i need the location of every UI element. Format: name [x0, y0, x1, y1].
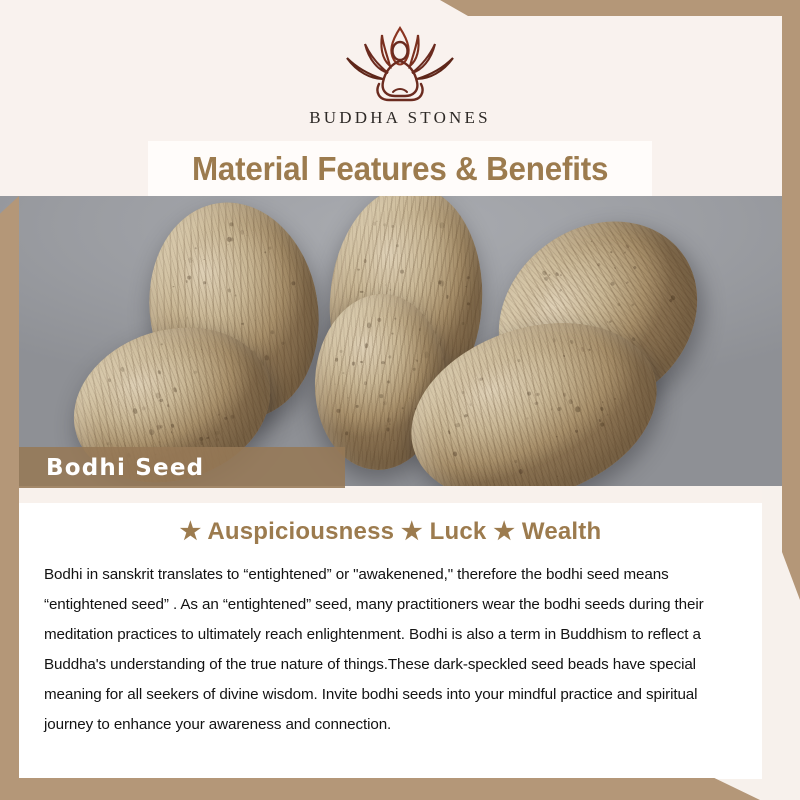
- seed-speck: [440, 222, 445, 228]
- seed-speck: [227, 244, 228, 245]
- seed-speck: [379, 394, 383, 399]
- seed-speck: [378, 318, 382, 322]
- seed-speck: [556, 436, 558, 437]
- seed-speck: [600, 422, 605, 426]
- seed-speck: [597, 263, 601, 267]
- seed-speck: [542, 270, 548, 276]
- seed-speck: [514, 459, 517, 463]
- seed-speck: [607, 414, 609, 416]
- seed-speck: [548, 273, 551, 276]
- seed-speck: [351, 362, 355, 366]
- seed-speck: [394, 318, 396, 320]
- seed-speck: [186, 280, 188, 283]
- seed-speck: [355, 405, 359, 408]
- seed-speck: [467, 302, 471, 305]
- seed-speck: [393, 440, 395, 441]
- seed-speck: [575, 406, 581, 413]
- seed-speck: [559, 274, 562, 277]
- seed-speck: [357, 268, 360, 271]
- seed-speck: [557, 407, 562, 412]
- seed-speck: [264, 251, 266, 253]
- seed-speck: [392, 225, 395, 228]
- seed-speck: [390, 289, 391, 291]
- seed-speck: [360, 361, 363, 364]
- seed-speck: [559, 289, 562, 292]
- seed-speck: [479, 377, 484, 381]
- seed-speck: [610, 281, 616, 287]
- seed-speck: [363, 259, 367, 264]
- seed-speck: [388, 355, 391, 359]
- seed-speck: [462, 322, 465, 325]
- seed-speck: [570, 340, 574, 344]
- seed-speck: [467, 276, 470, 279]
- seed-speck: [625, 280, 629, 284]
- seed-speck: [337, 409, 341, 413]
- seed-speck: [373, 222, 376, 226]
- seed-speck: [291, 281, 296, 286]
- seed-speck: [107, 442, 110, 445]
- seed-name-badge: Bodhi Seed: [0, 447, 345, 488]
- seed-speck: [161, 343, 164, 346]
- seed-speck: [389, 423, 391, 424]
- seed-speck: [159, 398, 164, 402]
- seed-speck: [269, 247, 272, 250]
- seed-speck: [339, 350, 342, 353]
- seed-speck: [194, 247, 196, 249]
- seed-name-text: Bodhi Seed: [46, 455, 204, 481]
- seed-speck: [387, 417, 391, 422]
- bottom-frame-accent: [0, 778, 760, 800]
- seed-speck: [200, 348, 202, 350]
- description-card: ★ Auspiciousness ★ Luck ★ Wealth Bodhi i…: [19, 486, 762, 771]
- seed-speck: [589, 349, 591, 351]
- seed-speck: [217, 413, 220, 416]
- seed-speck: [446, 295, 449, 299]
- seed-speck: [203, 383, 204, 384]
- card-top-tint: [19, 486, 762, 503]
- seed-speck: [614, 267, 616, 269]
- seed-speck: [224, 417, 228, 421]
- seed-speck: [132, 408, 138, 415]
- seed-speck: [440, 280, 445, 286]
- seed-speck: [609, 321, 612, 323]
- seed-speck: [557, 476, 559, 478]
- seed-speck: [335, 358, 339, 362]
- seed-speck: [461, 390, 465, 394]
- left-frame-accent: [0, 196, 19, 782]
- seed-speck: [334, 383, 336, 385]
- seed-speck: [554, 271, 560, 277]
- seed-speck: [229, 222, 234, 226]
- seed-speck: [623, 252, 626, 255]
- description-text: Bodhi in sanskrit translates to “entight…: [19, 546, 762, 740]
- page-title: Material Features & Benefits: [192, 150, 608, 188]
- seed-speck: [580, 347, 585, 353]
- seed-speck: [199, 246, 200, 248]
- seed-speck: [396, 244, 399, 247]
- seed-speck: [552, 338, 556, 342]
- card-bottom-strip: [19, 771, 762, 779]
- seed-speck: [212, 373, 214, 375]
- seed-speck: [281, 341, 285, 344]
- seed-speck: [625, 244, 629, 249]
- seed-speck: [401, 407, 403, 410]
- seed-speck: [550, 409, 551, 411]
- brand-name: BUDDHA STONES: [309, 108, 491, 128]
- seed-speck: [227, 237, 232, 243]
- seed-speck: [227, 288, 231, 293]
- seed-speck: [367, 323, 371, 329]
- seed-speck: [170, 423, 175, 428]
- seed-speck: [452, 451, 458, 457]
- seed-speck: [385, 284, 386, 285]
- seed-speck: [591, 240, 593, 242]
- seed-speck: [382, 401, 386, 406]
- seed-speck: [216, 438, 219, 441]
- seed-speck: [188, 257, 193, 264]
- seed-speck: [563, 355, 565, 357]
- seed-speck: [173, 286, 175, 288]
- seed-speck: [418, 328, 421, 331]
- seed-speck: [526, 417, 529, 420]
- seed-speck: [186, 317, 188, 320]
- seed-speck: [455, 422, 460, 428]
- seed-speck: [206, 436, 209, 439]
- seed-speck: [628, 285, 629, 286]
- seed-speck: [447, 430, 451, 434]
- title-banner: Material Features & Benefits: [148, 141, 652, 196]
- seed-speck: [384, 425, 385, 426]
- seed-speck: [187, 275, 192, 280]
- seed-speck: [464, 414, 469, 418]
- seed-speck: [633, 266, 636, 269]
- seed-speck: [669, 299, 672, 303]
- seed-speck: [424, 351, 429, 358]
- seed-speck: [120, 367, 125, 373]
- seed-speck: [376, 221, 378, 222]
- seed-speck: [469, 403, 472, 406]
- seed-speck: [631, 303, 635, 307]
- seed-speck: [193, 370, 198, 375]
- seed-speck: [536, 393, 540, 396]
- seed-speck: [631, 337, 636, 342]
- seed-speck: [241, 322, 244, 325]
- seed-speck: [412, 367, 416, 371]
- seed-speck: [157, 370, 161, 375]
- seed-speck: [141, 406, 146, 411]
- seed-speck: [610, 250, 613, 254]
- seed-speck: [518, 468, 524, 475]
- brand-lockup: BUDDHA STONES: [0, 22, 800, 128]
- seed-speck: [235, 294, 237, 296]
- seed-speck: [155, 392, 161, 399]
- seed-speck: [617, 303, 621, 307]
- seed-speck: [534, 401, 538, 405]
- seed-speck: [391, 332, 393, 334]
- seed-speck: [189, 356, 190, 357]
- seed-speck: [360, 291, 364, 294]
- seed-speck: [365, 343, 368, 347]
- seed-speck: [246, 235, 247, 236]
- seed-speck: [254, 320, 255, 321]
- seed-speck: [364, 381, 367, 385]
- seed-speck: [203, 281, 206, 285]
- seed-speck: [149, 429, 155, 436]
- seed-speck: [602, 401, 604, 403]
- right-frame-accent: [782, 0, 800, 600]
- seed-speck: [108, 377, 112, 382]
- seed-speck: [568, 399, 573, 405]
- seed-speck: [166, 404, 169, 407]
- seed-speck: [387, 381, 390, 384]
- seed-speck: [386, 428, 389, 432]
- seed-speck: [599, 407, 603, 411]
- seed-speck: [240, 230, 244, 235]
- seed-speck: [527, 391, 532, 396]
- seed-speck: [345, 431, 348, 435]
- seed-speck: [215, 430, 220, 435]
- seed-speck: [171, 431, 173, 433]
- seed-speck: [384, 223, 387, 226]
- seed-speck: [159, 424, 163, 429]
- seed-speck: [231, 415, 235, 419]
- seed-speck: [465, 286, 467, 288]
- seed-speck: [517, 359, 521, 363]
- seed-speck: [575, 429, 579, 433]
- product-photo: [0, 196, 800, 486]
- seed-speck: [562, 392, 567, 397]
- seed-speck: [543, 276, 548, 281]
- seed-speck: [599, 419, 602, 422]
- seed-speck: [343, 372, 345, 374]
- seed-speck: [199, 440, 203, 445]
- infographic-page: BUDDHA STONES Material Features & Benefi…: [0, 0, 800, 800]
- seed-speck: [173, 387, 178, 392]
- lotus-meditation-figure-icon: [325, 22, 475, 104]
- seed-speck: [409, 397, 411, 399]
- seed-speck: [270, 330, 274, 335]
- seed-speck: [381, 361, 385, 365]
- seed-speck: [203, 259, 204, 260]
- seed-speck: [415, 359, 417, 361]
- seed-speck: [400, 270, 404, 274]
- seed-speck: [347, 397, 348, 398]
- seed-speck: [159, 441, 161, 443]
